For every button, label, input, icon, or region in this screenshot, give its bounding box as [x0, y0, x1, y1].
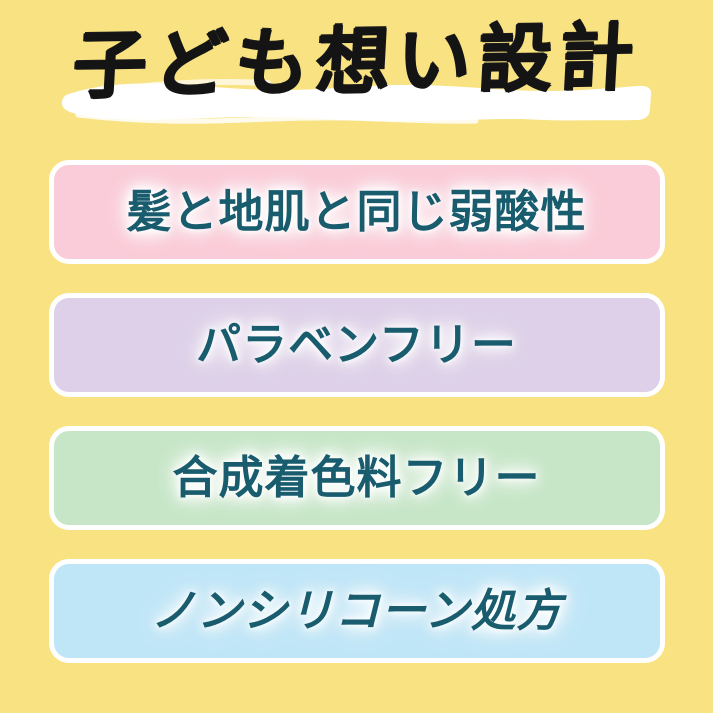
feature-card-no-synthetic-colorant[interactable]: 合成着色料フリー [49, 426, 665, 530]
feature-card-label: ノンシリコーン処方 [151, 585, 563, 637]
feature-card-label: 合成着色料フリー [172, 452, 540, 504]
feature-card-list: 髪と地肌と同じ弱酸性 パラベンフリー 合成着色料フリー ノンシリコーン処方 [0, 160, 713, 663]
feature-card-label: パラベンフリー [196, 319, 517, 371]
feature-card-weak-acidic[interactable]: 髪と地肌と同じ弱酸性 [49, 160, 665, 264]
poster-header: 子ども想い設計 [0, 0, 713, 150]
feature-card-paraben-free[interactable]: パラベンフリー [49, 293, 665, 397]
feature-card-label: 髪と地肌と同じ弱酸性 [126, 186, 586, 238]
promo-poster: 子ども想い設計 髪と地肌と同じ弱酸性 パラベンフリー 合成着色料フリー ノンシリ… [0, 0, 713, 713]
poster-title: 子ども想い設計 [0, 8, 713, 115]
feature-card-silicone-free[interactable]: ノンシリコーン処方 [49, 559, 665, 663]
